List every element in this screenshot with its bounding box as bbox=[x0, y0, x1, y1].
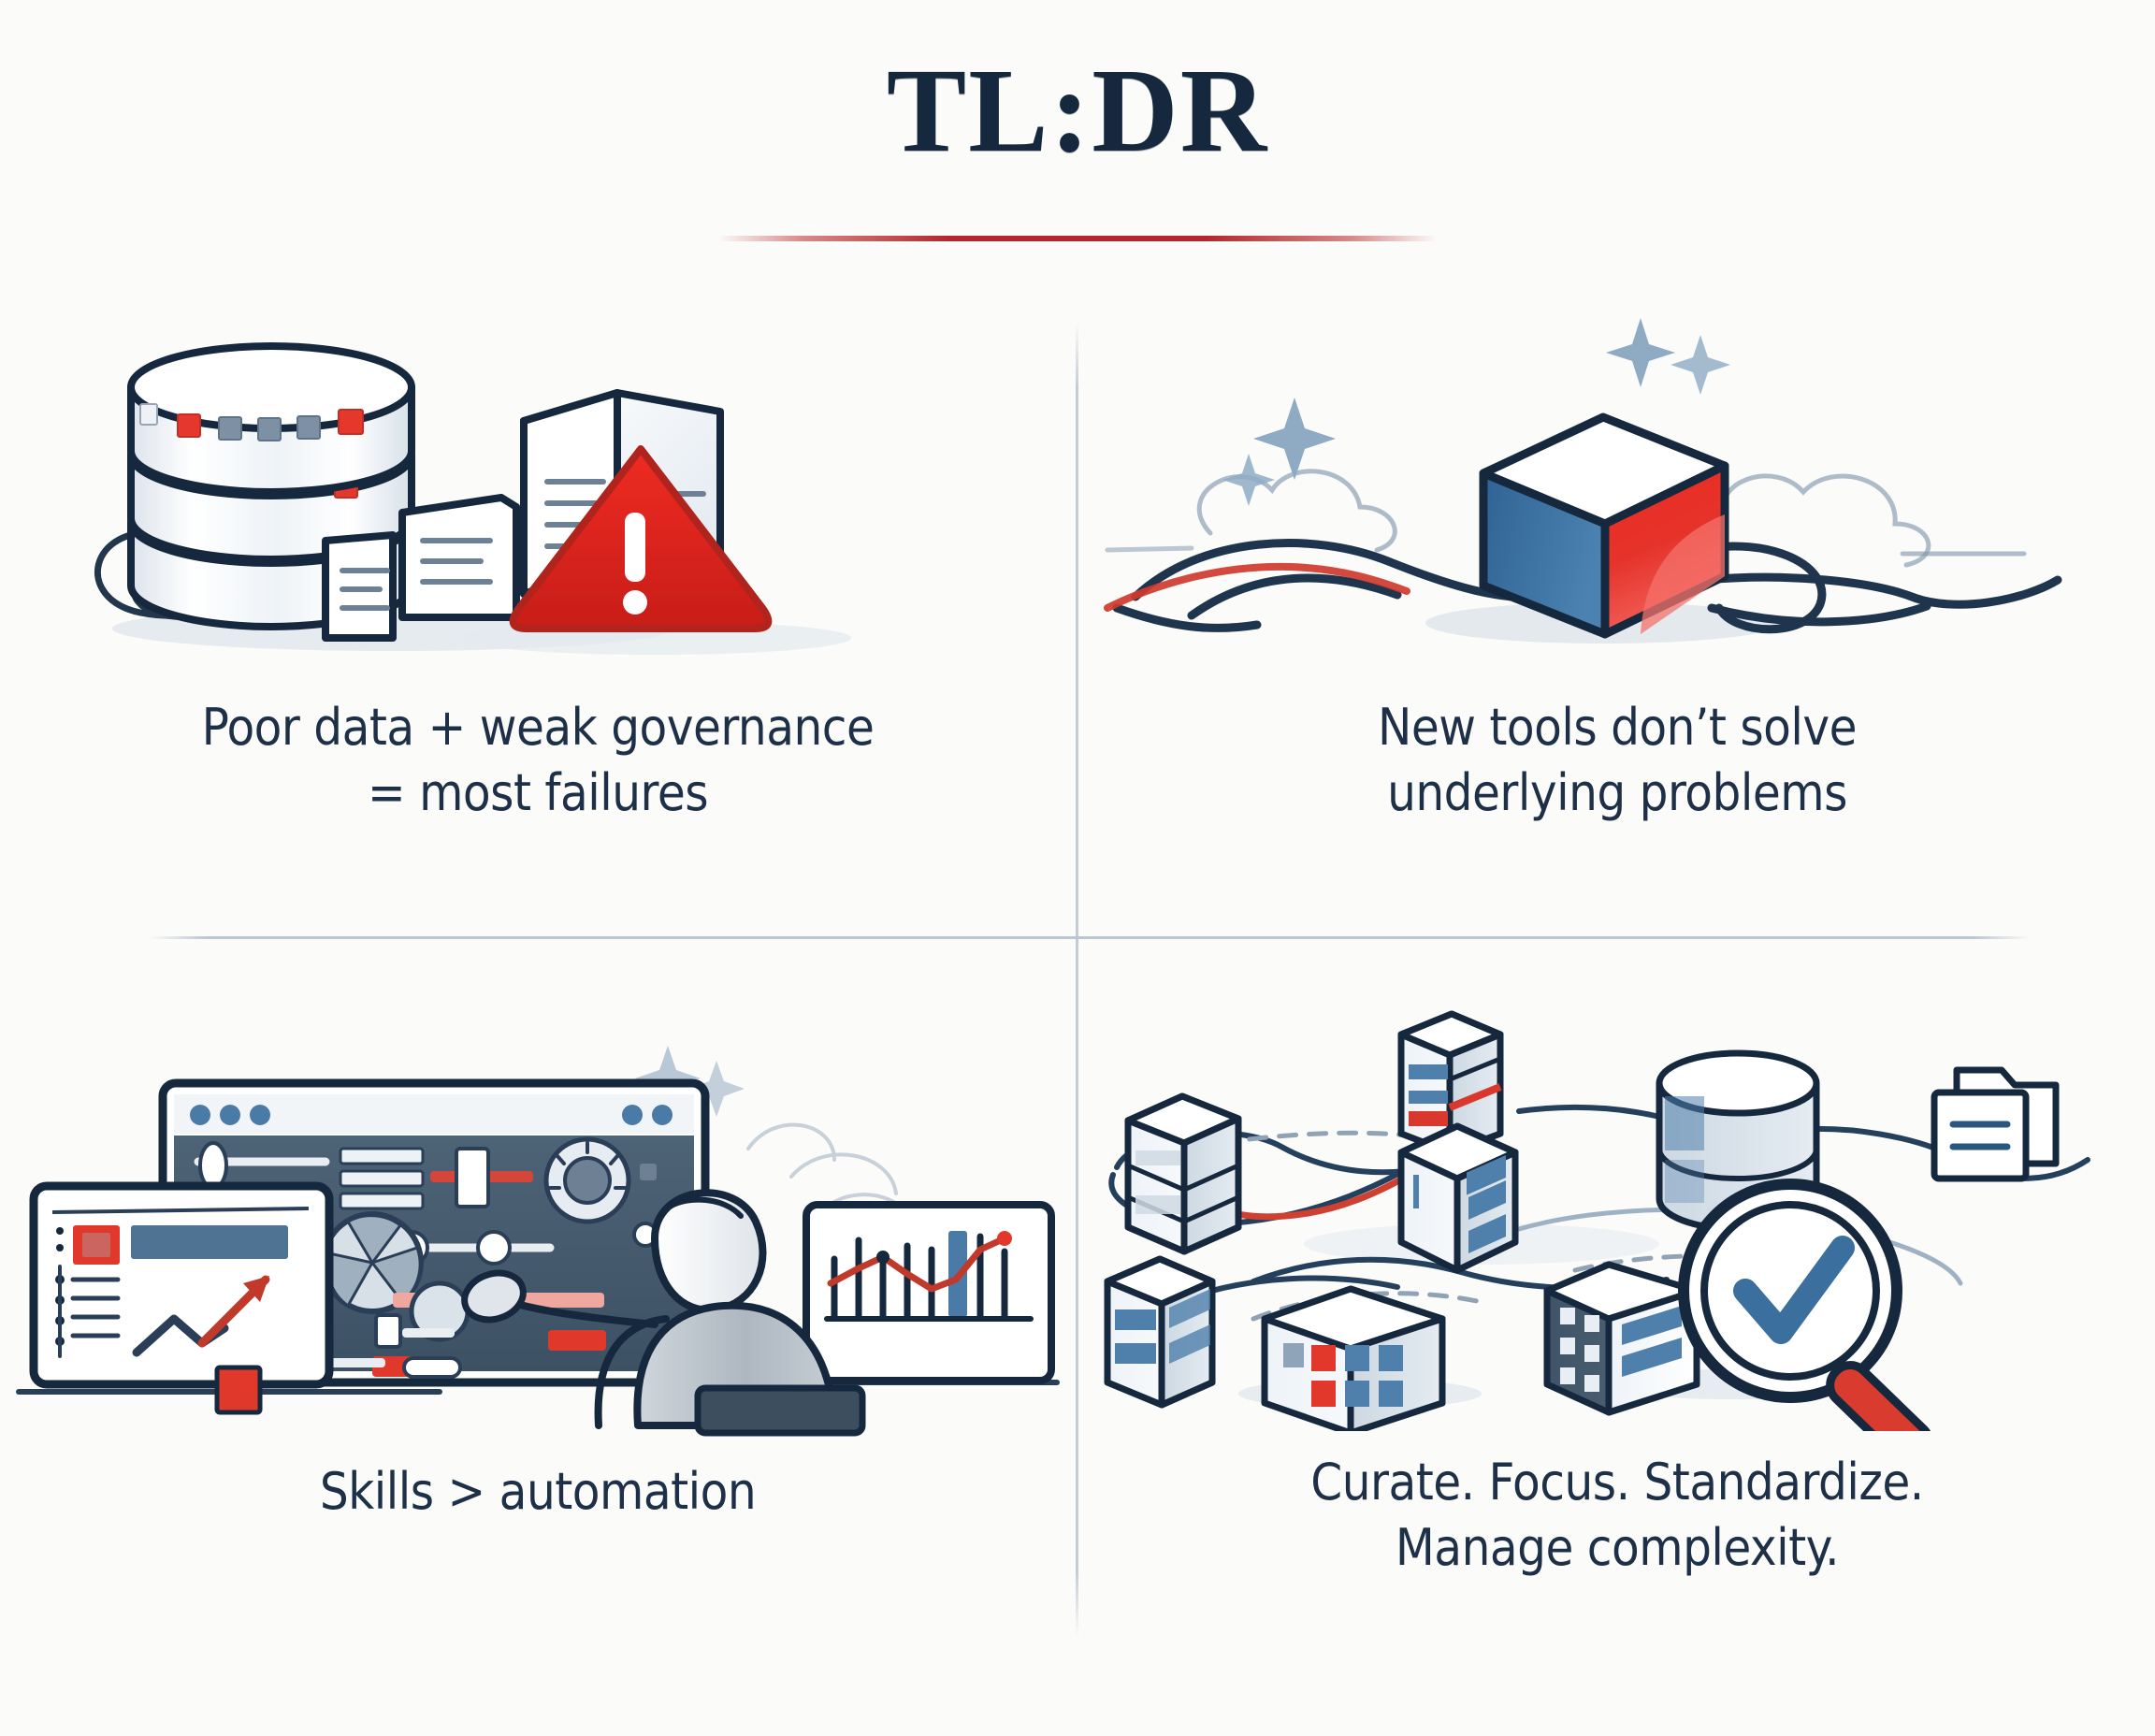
bar-chart-screen-right bbox=[806, 1205, 1051, 1381]
vertical-divider bbox=[1076, 323, 1078, 1637]
header: TL:DR bbox=[0, 0, 2155, 281]
caption-line: underlying problems bbox=[1079, 760, 2155, 826]
chart-screen-left bbox=[34, 1186, 329, 1412]
caption-line: Curate. Focus. Standardize. bbox=[1079, 1450, 2155, 1515]
caption-new-tools: New tools don’t solve underlying problem… bbox=[1079, 695, 2155, 826]
caption-line: = most failures bbox=[0, 760, 1076, 826]
caption-line: Poor data + weak governance bbox=[0, 695, 1076, 760]
quadrant-curate: Curate. Focus. Standardize. Manage compl… bbox=[1079, 940, 2155, 1660]
caption-line: New tools don’t solve bbox=[1079, 695, 2155, 760]
title-divider-rule bbox=[718, 236, 1437, 241]
caption-line: Skills > automation bbox=[0, 1459, 1076, 1525]
caption-skills: Skills > automation bbox=[0, 1459, 1076, 1525]
quadrant-poor-data: Poor data + weak governance = most failu… bbox=[0, 281, 1076, 1001]
quadrant-new-tools: New tools don’t solve underlying problem… bbox=[1079, 281, 2155, 1001]
illustration-server-network-magnifier bbox=[1079, 1010, 2155, 1431]
illustration-database-documents-warning bbox=[0, 290, 1076, 673]
illustration-operator-control-panel bbox=[0, 1038, 1076, 1440]
caption-poor-data: Poor data + weak governance = most failu… bbox=[0, 695, 1076, 826]
bicolor-cube bbox=[1483, 417, 1725, 634]
illustration-cube-tangled-cables bbox=[1079, 299, 2155, 673]
page-title: TL:DR bbox=[0, 36, 2155, 185]
caption-curate: Curate. Focus. Standardize. Manage compl… bbox=[1079, 1450, 2155, 1581]
folder-icon bbox=[1934, 1070, 2056, 1179]
caption-line: Manage complexity. bbox=[1079, 1515, 2155, 1581]
quadrant-skills: Skills > automation bbox=[0, 940, 1076, 1660]
tldr-infographic: TL:DR bbox=[0, 0, 2155, 1736]
